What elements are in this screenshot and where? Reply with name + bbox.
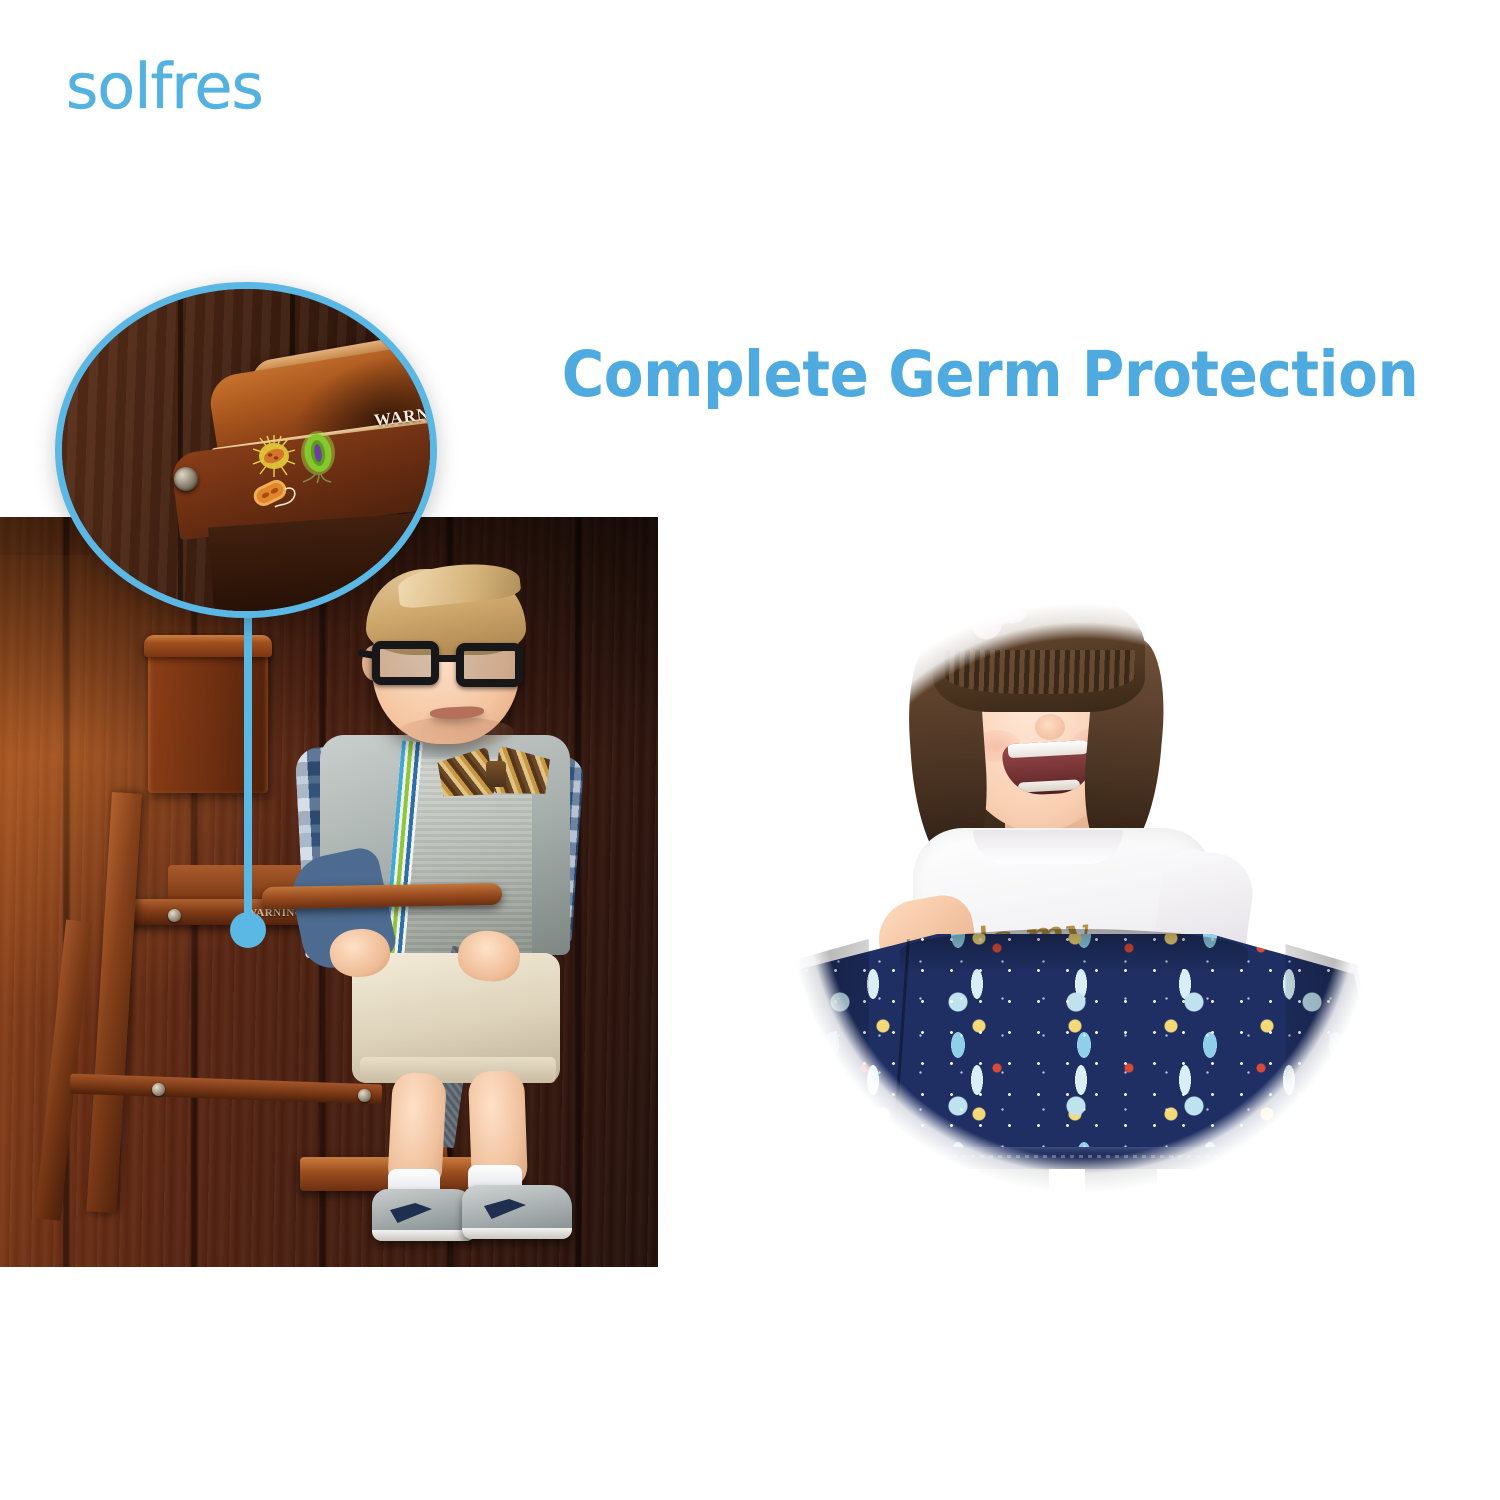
boy-right-sneaker — [462, 1185, 572, 1239]
boy-left-sneaker — [372, 1189, 476, 1241]
boy-bow-tie — [440, 749, 552, 799]
boy-chin-shadow — [398, 717, 514, 747]
sneaker-sole — [372, 1230, 476, 1241]
leader-stem — [244, 600, 252, 930]
cover-trim-stitching — [800, 1155, 1347, 1158]
boy-eyeglasses — [368, 641, 531, 685]
germ-orange-rod-icon — [248, 473, 300, 509]
sneaker-stripe — [390, 1203, 432, 1223]
magnified-chair-screw — [174, 467, 198, 491]
wood-seam — [178, 282, 183, 618]
germ-green-bacillus-icon — [298, 429, 340, 483]
boy-shorts-cuff — [360, 1057, 556, 1083]
brand-logo: solfres — [66, 56, 263, 118]
girl-bangs-strands — [945, 650, 1135, 694]
glasses-right-lens — [456, 643, 523, 687]
sneaker-sole — [462, 1228, 572, 1239]
page-title: Complete Germ Protection — [558, 342, 1423, 408]
callout-leader-line — [238, 600, 258, 948]
cover-right-fold — [1285, 944, 1385, 1154]
left-photo-boy-in-high-chair: WARNING — [0, 517, 658, 1267]
chair-screw — [168, 909, 181, 922]
cover-left-fold — [763, 939, 869, 1154]
shopping-cart-cover-product — [763, 924, 1385, 1174]
glasses-bridge — [436, 655, 460, 662]
bow-tie-knot — [486, 761, 506, 787]
cover-top-shading — [900, 929, 1248, 974]
chair-screw — [358, 1089, 371, 1102]
cover-elastic-trim — [775, 1147, 1372, 1169]
right-photo-girl-in-cart-cover: It's my — [705, 500, 1465, 1300]
tshirt-collar — [973, 830, 1123, 864]
girl-nose — [1035, 714, 1065, 740]
sneaker-stripe — [484, 1199, 526, 1219]
leader-endpoint-dot — [230, 912, 266, 948]
chair-screw — [152, 1083, 165, 1096]
product-marketing-image: solfres Complete Germ Protection WARNING — [0, 0, 1500, 1500]
chair-front-bar — [262, 883, 502, 909]
bottom-white-fade — [705, 1180, 1465, 1300]
glasses-left-lens — [372, 641, 439, 685]
girl-upper-teeth — [1008, 740, 1089, 758]
germ-zoom-callout: WARNI — [55, 282, 437, 618]
